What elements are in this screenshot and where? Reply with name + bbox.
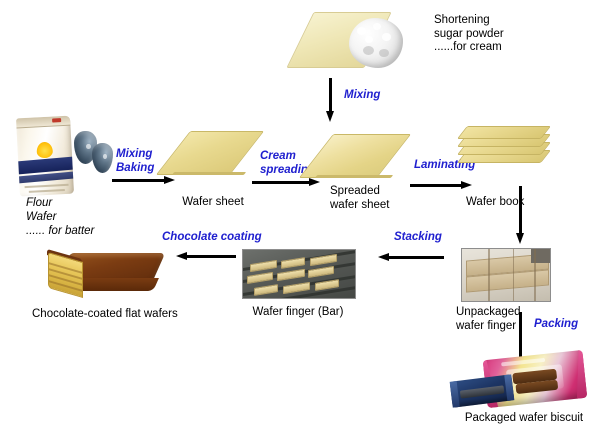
arrow-chocolate-coating [176,252,236,261]
arrow-laminating [410,181,472,190]
chocolate-coated-flat-wafers-label: Chocolate-coated flat wafers [32,308,222,322]
process-flow-diagram: Shortening sugar powder ......for cream … [0,0,600,442]
spreaded-wafer-sheet-icon [316,134,392,176]
wafer-book-label: Wafer book [466,196,556,210]
sugar-powder-icon [349,18,403,68]
cream-input-label: Shortening sugar powder ......for cream [434,14,574,55]
arrow-cream-spreading [252,178,320,187]
conveyor-belt-image [242,249,356,299]
unpackaged-wafer-finger-label: Unpackaged wafer finger [456,306,546,333]
operation-mixing: Mixing [344,89,414,103]
arrow-stacking [378,253,444,262]
operation-packing: Packing [534,318,594,332]
wafer-sheet-label: Wafer sheet [158,196,268,210]
chocolate-bar-icon [48,253,158,297]
flour-bag-icon [16,116,74,197]
batter-input-label: Flour Wafer ...... for batter [26,196,146,238]
packaged-wafer-biscuit-label: Packaged wafer biscuit [448,412,600,426]
arrow-mixing-baking [112,176,175,185]
water-drop-icon [92,143,113,173]
wafer-book-icon [462,126,544,172]
unpackaged-wafer-finger-image [461,248,551,302]
arrow-to-unpackaged [516,186,525,244]
wafer-sheet-icon [173,131,245,173]
wafer-finger-bar-label: Wafer finger (Bar) [238,306,358,320]
arrow-mixing [326,78,335,122]
operation-chocolate-coating: Chocolate coating [162,231,272,245]
spreaded-wafer-sheet-label: Spreaded wafer sheet [330,185,420,212]
operation-stacking: Stacking [394,231,464,245]
